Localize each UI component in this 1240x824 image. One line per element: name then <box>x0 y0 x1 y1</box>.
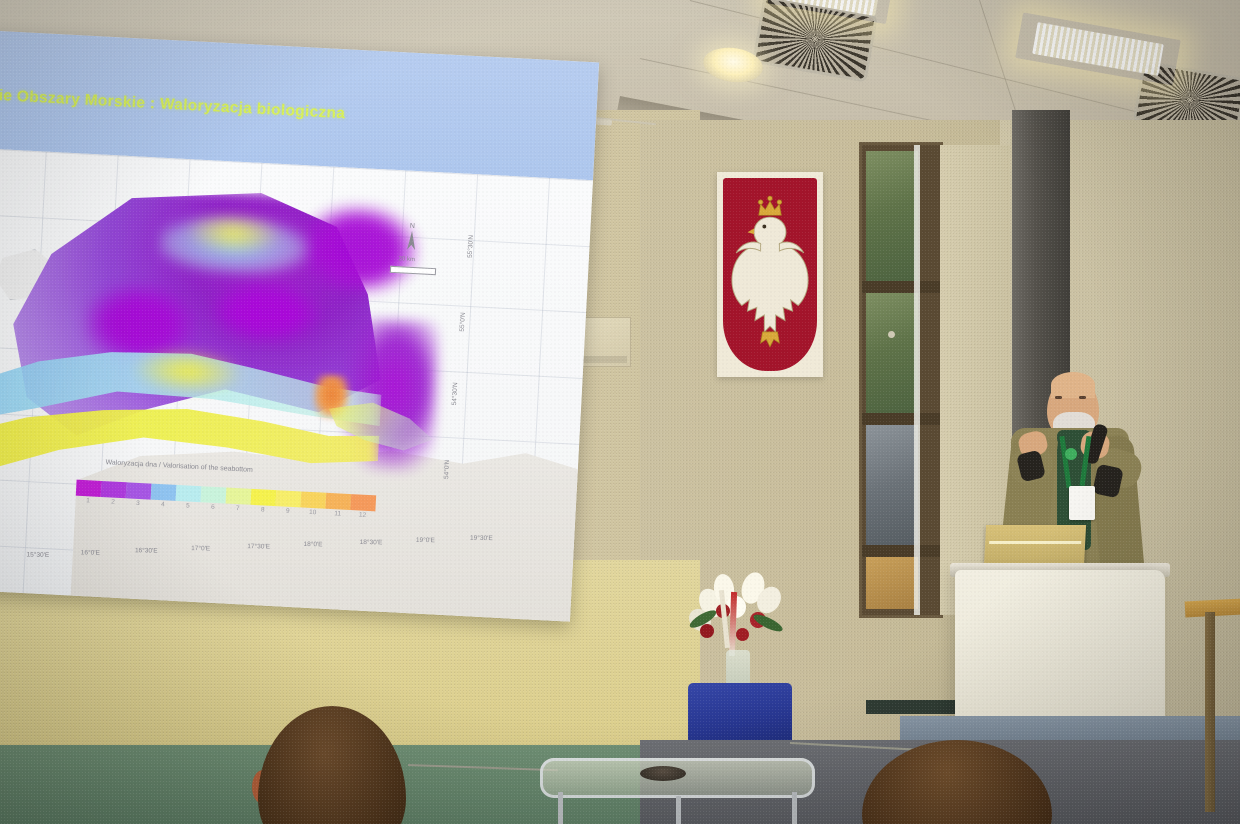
legend-tick: 8 <box>250 506 275 514</box>
legend-swatch <box>251 489 277 506</box>
legend-swatch <box>126 482 152 499</box>
door-mullion <box>862 413 940 425</box>
legend-tick: 12 <box>350 511 375 519</box>
table-leg <box>558 792 563 824</box>
map-lat-label: 54°30'N <box>451 382 459 405</box>
map-lon-label: 15°30'E <box>27 552 50 559</box>
legend-tick: 6 <box>200 503 225 511</box>
map-lat-label: 55°0'N <box>459 312 467 332</box>
map-lat-label: 55°30'N <box>467 235 475 258</box>
heatmap-region-deep-patch <box>209 278 322 346</box>
glass-door-frame[interactable] <box>862 145 940 615</box>
legend-tick: 7 <box>225 504 250 512</box>
table-leg <box>792 792 797 824</box>
north-arrow-icon: N <box>403 222 421 254</box>
door-glass-pane <box>866 557 918 609</box>
map-lat-label: 54°0'N <box>443 459 451 479</box>
projection-screen: olskie Obszary Morskie : Waloryzacja bio… <box>0 30 599 622</box>
door-glass-pane <box>866 293 918 413</box>
name-badge <box>1069 486 1095 520</box>
legend-swatch <box>350 494 376 511</box>
wooden-table-leg <box>1205 612 1215 812</box>
map-lon-label: 17°0'E <box>191 545 210 552</box>
speaker-eye <box>1055 396 1062 399</box>
legend-swatch <box>300 491 326 508</box>
legend-tick: 3 <box>125 499 150 507</box>
eagle-icon <box>723 178 817 371</box>
door-mullion <box>862 281 940 293</box>
door-mullion <box>862 545 940 557</box>
red-flower <box>700 624 714 638</box>
blue-pedestal <box>688 683 792 748</box>
speaker-bald-top <box>1051 372 1095 398</box>
map-lon-label: 16°0'E <box>81 549 100 556</box>
table-object <box>640 766 686 781</box>
legend-swatch <box>325 493 351 510</box>
lanyard-pin-icon <box>1065 448 1077 460</box>
legend-swatch <box>226 488 252 505</box>
wall-notice <box>578 318 630 366</box>
map-lon-label: 18°0'E <box>303 541 322 548</box>
legend-tick: 9 <box>275 507 300 515</box>
slide-map-area: 15°30'E 16°0'E 16°30'E 17°0'E 17°30'E 18… <box>0 148 593 622</box>
map-scale-label: 20 km <box>398 256 415 263</box>
legend-swatch <box>176 485 202 502</box>
legend-swatch <box>76 480 102 497</box>
door-mullion <box>914 145 920 615</box>
legend-tick: 5 <box>175 502 200 510</box>
heatmap-region-coastal <box>131 346 243 396</box>
map-lon-label: 19°0'E <box>416 537 435 544</box>
legend-tick: 2 <box>100 498 125 506</box>
heatmap-region-yellow-northwest <box>185 211 283 256</box>
heatmap-region-hotspot <box>150 355 177 374</box>
door-glass-pane <box>866 151 918 281</box>
red-flower <box>736 628 749 641</box>
conference-room-photo: olskie Obszary Morskie : Waloryzacja bio… <box>0 0 1240 824</box>
map-lon-label: 16°30'E <box>135 547 158 554</box>
polish-coat-of-arms <box>717 172 823 377</box>
legend-swatch <box>201 486 227 503</box>
laptop[interactable] <box>984 525 1086 567</box>
legend-tick: 1 <box>75 497 100 505</box>
map-lon-label: 19°30'E <box>470 535 493 542</box>
legend-swatch <box>151 484 177 501</box>
shield-shape <box>723 178 817 371</box>
legend-tick: 4 <box>150 501 175 509</box>
map-lon-label: 18°30'E <box>360 539 383 546</box>
speaker-eye <box>1079 396 1086 399</box>
legend-tick: 11 <box>325 510 350 518</box>
legend-tick: 10 <box>300 508 325 516</box>
door-glass-pane <box>866 425 918 545</box>
door-handle[interactable] <box>888 331 895 338</box>
legend-swatch <box>275 490 301 507</box>
legend-swatch <box>101 481 127 498</box>
map-lon-label: 17°30'E <box>247 543 270 550</box>
table-leg <box>676 796 681 824</box>
